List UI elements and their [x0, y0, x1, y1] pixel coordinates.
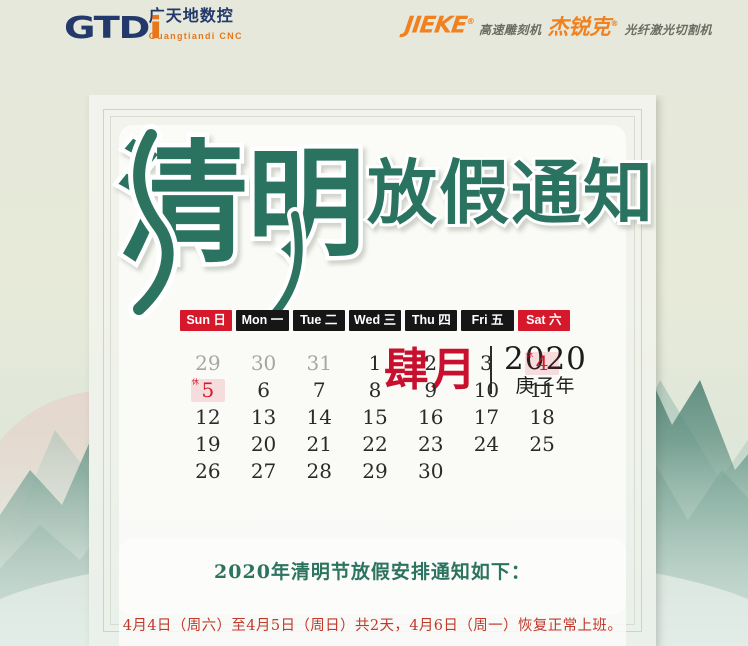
- calendar-day-cell[interactable]: 12: [180, 404, 236, 431]
- calendar-day-cell[interactable]: 2: [403, 350, 459, 377]
- calendar-day-cell[interactable]: 14: [291, 404, 347, 431]
- calendar-day-cell[interactable]: 3: [459, 350, 515, 377]
- calendar-day-number: 13: [251, 405, 276, 429]
- gtdi-wordmark: GTDi: [64, 14, 140, 44]
- calendar-day-number: 20: [251, 432, 276, 456]
- notice-card: 清 明 放假通知 肆月 2020 庚子年 Sun 日Mon 一Tue 二Wed …: [89, 95, 656, 646]
- calendar-day-cell[interactable]: 休4: [514, 350, 570, 377]
- calendar-day-cell[interactable]: 27: [236, 458, 292, 485]
- calendar-day-number: 14: [307, 405, 332, 429]
- calendar-day-cell[interactable]: 21: [291, 431, 347, 458]
- calendar-day-number: 6: [257, 378, 270, 402]
- calendar-day-cell[interactable]: 6: [236, 377, 292, 404]
- calendar-day-cell[interactable]: 11: [514, 377, 570, 404]
- calendar-day-number: 12: [195, 405, 220, 429]
- calendar-day-cell[interactable]: 13: [236, 404, 292, 431]
- calendar-day-cell[interactable]: 30: [403, 458, 459, 485]
- calendar-day-number: 2: [424, 351, 437, 375]
- calendar-day-number: 10: [474, 378, 499, 402]
- gtdi-wordmark-accent: i: [149, 11, 161, 46]
- jieke-wordmark-text: JIEKE: [403, 13, 468, 39]
- calendar-day-cell[interactable]: 16: [403, 404, 459, 431]
- calendar-day-number: 29: [362, 459, 387, 483]
- brand-header-bar: GTDi 广天地数控 Guangtiandi CNC JIEKE® 高速雕刻机 …: [0, 0, 748, 95]
- calendar-day-number: 23: [418, 432, 443, 456]
- calendar-day-number: 4: [536, 351, 549, 375]
- weekday-badge-0: Sun 日: [180, 310, 232, 331]
- calendar-day-number: 15: [362, 405, 387, 429]
- hero-title: 清 明 放假通知: [89, 95, 656, 325]
- calendar-day-number: 3: [480, 351, 493, 375]
- calendar-day-cell[interactable]: 15: [347, 404, 403, 431]
- calendar-day-cell[interactable]: 10: [459, 377, 515, 404]
- calendar-day-number: 1: [369, 351, 382, 375]
- calendar-day-number: 22: [362, 432, 387, 456]
- calendar-day-cell[interactable]: 31: [291, 350, 347, 377]
- notice-block: 2020年清明节放假安排通知如下： 4月4日（周六）至4月5日（周日）共2天，4…: [89, 557, 656, 635]
- calendar-day-number: 30: [418, 459, 443, 483]
- gtdi-wordmark-text: GTD: [64, 11, 149, 46]
- jieke-caption-1: 高速雕刻机: [479, 23, 542, 38]
- calendar-day-number: 27: [251, 459, 276, 483]
- calendar-day-number: 7: [313, 378, 326, 402]
- jieke-caption-2: 光纤激光切割机: [624, 23, 712, 38]
- weekday-badge-6: Sat 六: [518, 310, 570, 331]
- weekday-badge-4: Thu 四: [405, 310, 457, 331]
- jieke-wordmark: JIEKE®: [403, 10, 475, 38]
- registered-trademark-icon-2: ®: [610, 19, 618, 28]
- calendar-day-cell[interactable]: 29: [347, 458, 403, 485]
- weekday-badge-1: Mon 一: [236, 310, 288, 331]
- calendar-day-number: 31: [307, 351, 332, 375]
- calendar-day-number: 8: [369, 378, 382, 402]
- calendar-day-number: 25: [529, 432, 554, 456]
- gtdi-name-block: 广天地数控 Guangtiandi CNC: [149, 8, 243, 44]
- calendar-day-cell[interactable]: 29: [180, 350, 236, 377]
- calendar-day-cell[interactable]: 18: [514, 404, 570, 431]
- weekday-badge-2: Tue 二: [293, 310, 345, 331]
- calendar-day-cell[interactable]: 19: [180, 431, 236, 458]
- calendar-day-cell[interactable]: 24: [459, 431, 515, 458]
- calendar-day-cell[interactable]: 26: [180, 458, 236, 485]
- calendar-day-cell[interactable]: 休5: [180, 377, 236, 404]
- gtdi-cn-name: 广天地数控: [149, 8, 234, 25]
- calendar-day-cell[interactable]: 7: [291, 377, 347, 404]
- rest-day-mark: 休: [526, 351, 533, 360]
- calendar-day-number: 28: [307, 459, 332, 483]
- calendar-day-number: 29: [195, 351, 220, 375]
- calendar-day-grid: 293031123休4休5678910111213141516171819202…: [180, 350, 570, 485]
- calendar-day-cell[interactable]: 30: [236, 350, 292, 377]
- calendar-day-number: 5: [201, 378, 214, 402]
- logo-gtdi: GTDi 广天地数控 Guangtiandi CNC: [64, 8, 243, 44]
- calendar-day-cell[interactable]: 9: [403, 377, 459, 404]
- calendar-day-number: 18: [529, 405, 554, 429]
- logo-jieke: JIEKE® 高速雕刻机 杰锐克® 光纤激光切割机: [405, 10, 712, 38]
- notice-title: 2020年清明节放假安排通知如下：: [89, 557, 656, 584]
- gtdi-en-name: Guangtiandi CNC: [149, 31, 243, 41]
- calendar-day-cell[interactable]: 22: [347, 431, 403, 458]
- calendar-day-number: 24: [474, 432, 499, 456]
- calendar-weekday-header: Sun 日Mon 一Tue 二Wed 三Thu 四Fri 五Sat 六: [180, 310, 570, 331]
- weekday-badge-5: Fri 五: [461, 310, 513, 331]
- calendar-day-number: 16: [418, 405, 443, 429]
- jieke-cn-text: 杰锐克: [547, 15, 610, 39]
- calendar-day-number: 19: [195, 432, 220, 456]
- calendar-day-number: 17: [474, 405, 499, 429]
- calendar-day-cell[interactable]: 8: [347, 377, 403, 404]
- notice-detail: 4月4日（周六）至4月5日（周日）共2天，4月6日（周一）恢复正常上班。: [89, 614, 656, 635]
- calendar-day-cell[interactable]: 17: [459, 404, 515, 431]
- hero-subtitle: 放假通知: [367, 151, 655, 234]
- calendar-day-cell[interactable]: 20: [236, 431, 292, 458]
- calendar-day-number: 30: [251, 351, 276, 375]
- calendar-day-cell[interactable]: 28: [291, 458, 347, 485]
- calendar-day-number: 26: [195, 459, 220, 483]
- calendar-day-number: 9: [424, 378, 437, 402]
- weekday-badge-3: Wed 三: [349, 310, 401, 331]
- rest-day-mark: 休: [192, 378, 199, 387]
- registered-trademark-icon: ®: [466, 17, 474, 26]
- jieke-cn-wordmark: 杰锐克®: [547, 13, 618, 38]
- calendar-day-number: 11: [529, 378, 554, 402]
- calendar-day-cell[interactable]: 23: [403, 431, 459, 458]
- calendar-day-cell[interactable]: 1: [347, 350, 403, 377]
- calendar-day-number: 21: [307, 432, 332, 456]
- calendar-day-cell[interactable]: 25: [514, 431, 570, 458]
